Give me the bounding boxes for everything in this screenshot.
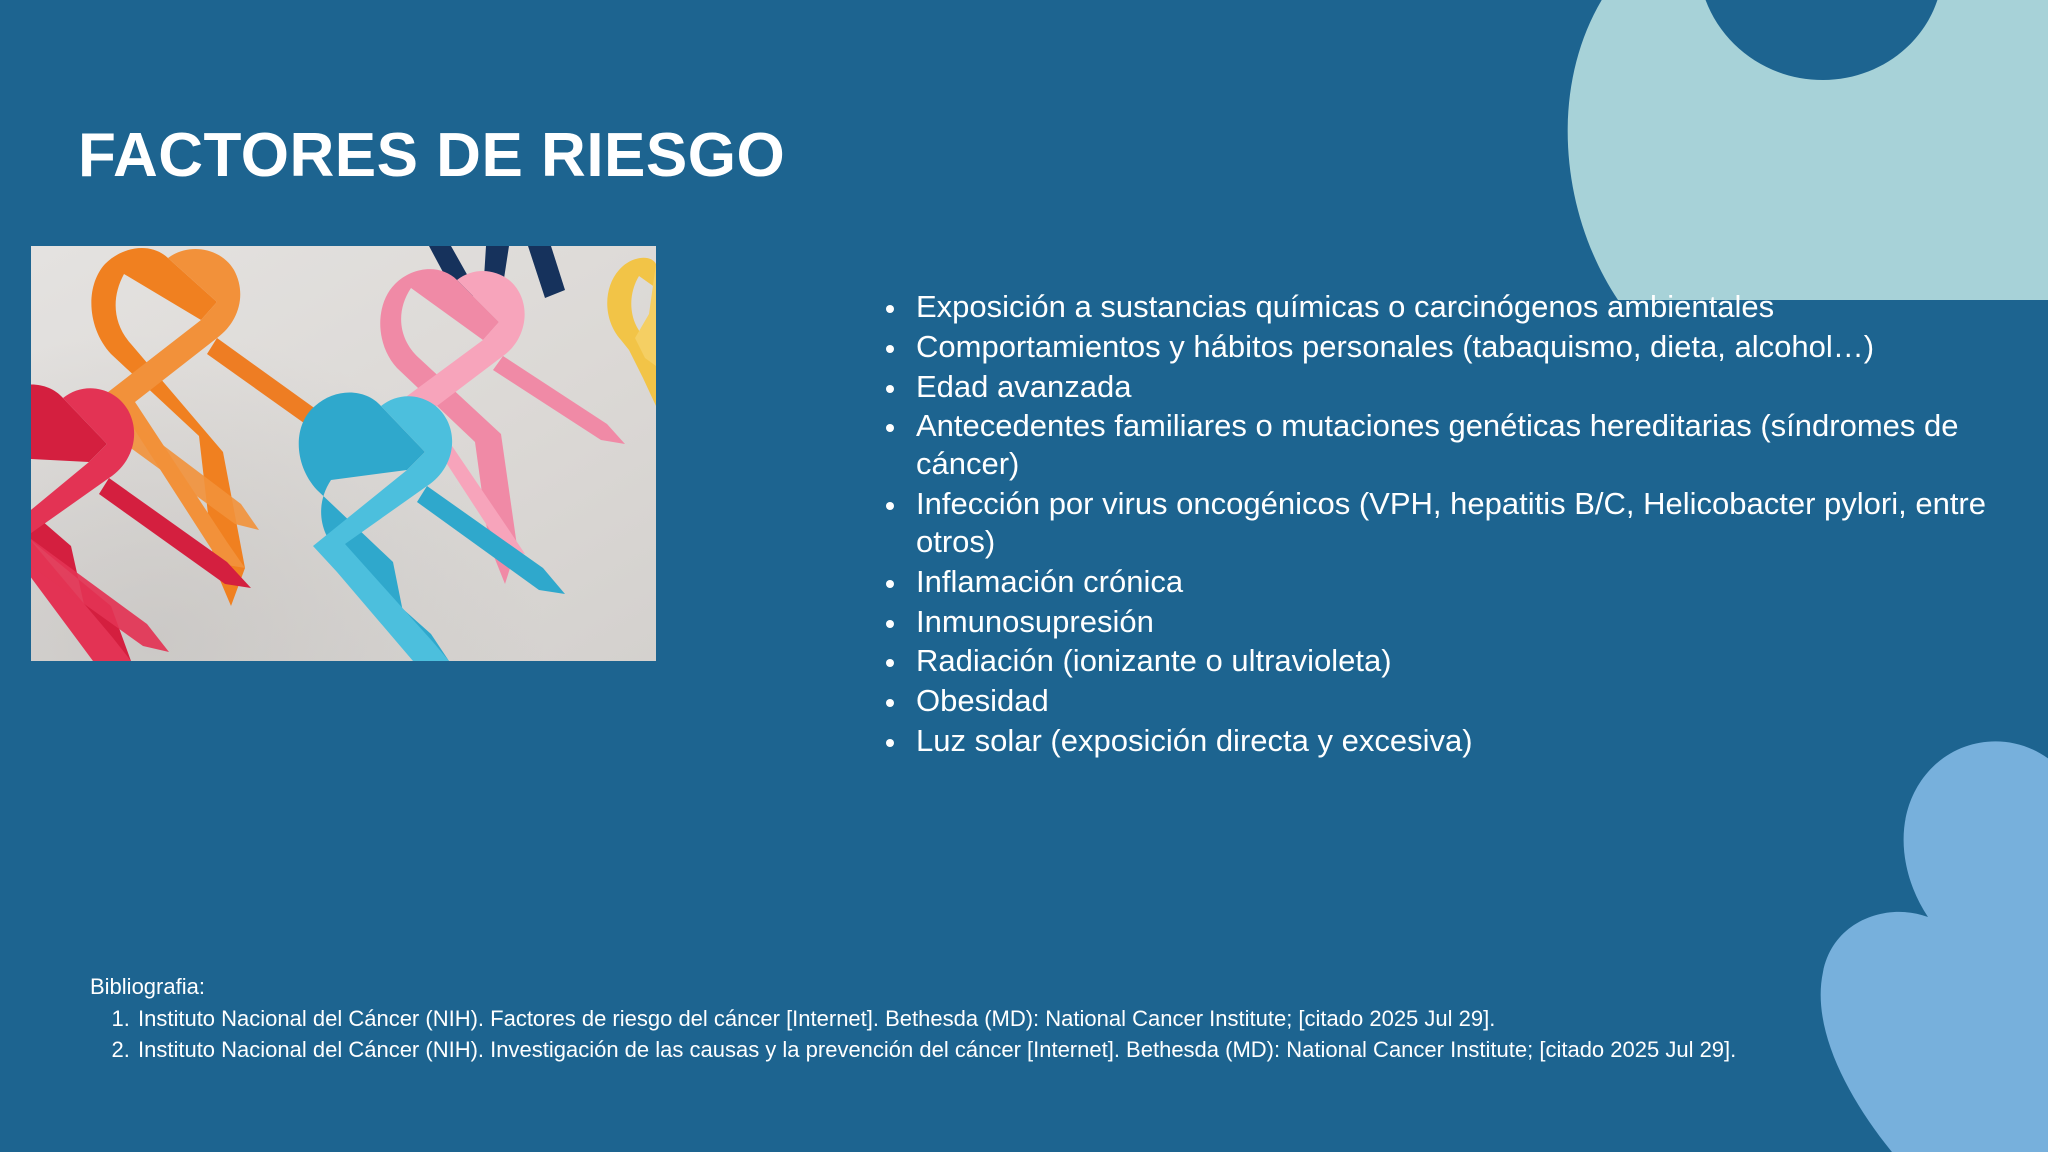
blue-ribbon-icon bbox=[299, 393, 565, 662]
risk-factors-list: Exposición a sustancias químicas o carci… bbox=[878, 288, 2008, 762]
risk-factors-ul: Exposición a sustancias químicas o carci… bbox=[878, 288, 2008, 760]
list-item: Obesidad bbox=[908, 682, 2008, 720]
top-right-blob-decoration bbox=[1548, 0, 2048, 300]
slide: FACTORES DE RIESGO bbox=[0, 0, 2048, 1152]
list-item: Edad avanzada bbox=[908, 368, 2008, 406]
bibliography-entry: Instituto Nacional del Cáncer (NIH). Inv… bbox=[136, 1035, 1900, 1065]
bibliography-section: Bibliografia: Instituto Nacional del Cán… bbox=[90, 972, 1900, 1066]
list-item: Exposición a sustancias químicas o carci… bbox=[908, 288, 2008, 326]
bibliography-heading: Bibliografia: bbox=[90, 972, 1900, 1002]
list-item: Antecedentes familiares o mutaciones gen… bbox=[908, 407, 2008, 483]
list-item: Comportamientos y hábitos personales (ta… bbox=[908, 328, 2008, 366]
list-item: Inmunosupresión bbox=[908, 603, 2008, 641]
yellow-ribbon-icon bbox=[607, 258, 656, 406]
list-item: Luz solar (exposición directa y excesiva… bbox=[908, 722, 2008, 760]
ribbons-photo bbox=[31, 246, 656, 661]
bibliography-entry: Instituto Nacional del Cáncer (NIH). Fac… bbox=[136, 1004, 1900, 1034]
list-item: Infección por virus oncogénicos (VPH, he… bbox=[908, 485, 2008, 561]
page-title: FACTORES DE RIESGO bbox=[78, 122, 785, 190]
ribbon-illustrations bbox=[31, 246, 656, 661]
list-item: Inflamación crónica bbox=[908, 563, 2008, 601]
list-item: Radiación (ionizante o ultravioleta) bbox=[908, 642, 2008, 680]
bibliography-list: Instituto Nacional del Cáncer (NIH). Fac… bbox=[90, 1004, 1900, 1066]
